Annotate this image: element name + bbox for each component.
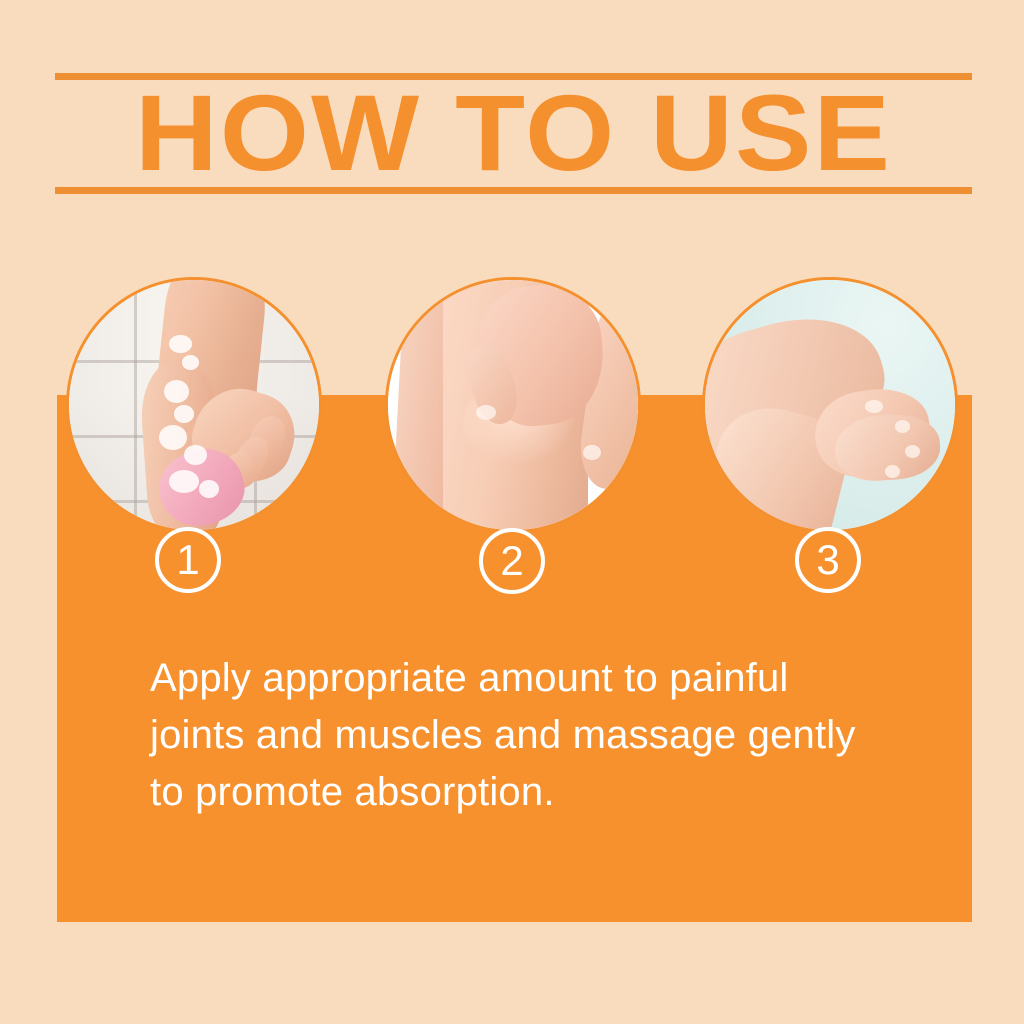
step-3 — [702, 277, 958, 533]
instructions-line-1: Apply appropriate amount to painful — [150, 650, 890, 707]
page-title: HOW TO USE — [27, 83, 999, 183]
instructions-line-2: joints and muscles and massage gently — [150, 707, 890, 764]
instructions-line-3: to promote absorption. — [150, 764, 890, 821]
how-to-use-poster: HOW TO USE — [0, 0, 1024, 1024]
step-3-number: 3 — [795, 527, 861, 593]
step-3-photo — [702, 277, 958, 533]
step-1 — [66, 277, 322, 533]
hands-applying-cream-to-leg-icon — [705, 280, 955, 530]
washing-leg-with-pink-sponge-in-shower-icon — [69, 280, 319, 530]
step-1-photo — [66, 277, 322, 533]
title-rule-bottom — [55, 187, 972, 194]
instructions-text: Apply appropriate amount to painful join… — [150, 650, 890, 821]
step-2 — [385, 277, 641, 533]
hand-massaging-knee-icon — [388, 280, 638, 530]
step-1-number: 1 — [155, 527, 221, 593]
step-2-photo — [385, 277, 641, 533]
step-2-number: 2 — [479, 528, 545, 594]
